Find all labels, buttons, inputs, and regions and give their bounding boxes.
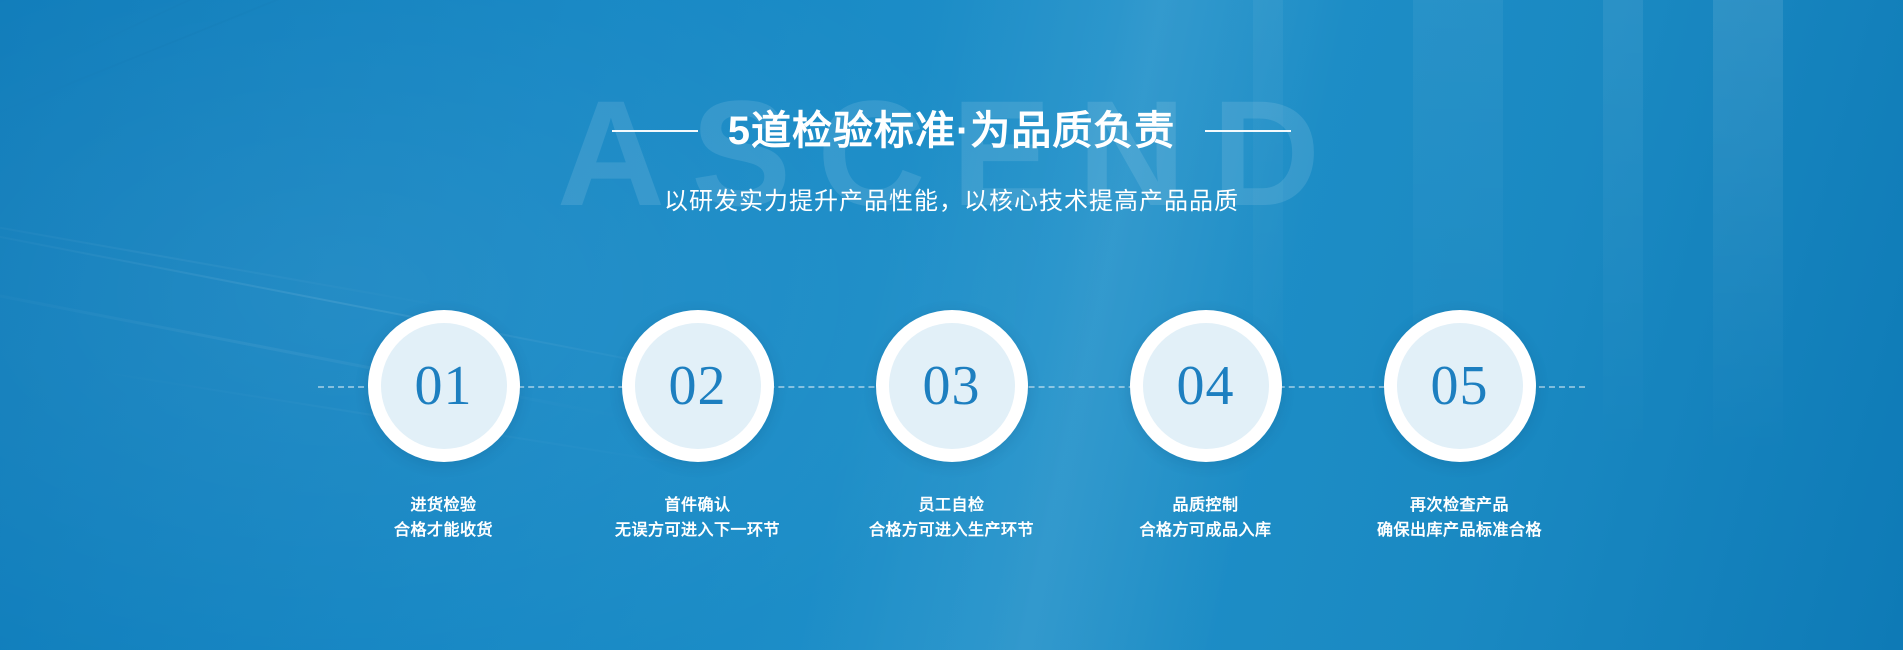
title-rule-right <box>1205 130 1291 132</box>
step-labels: 员工自检 合格方可进入生产环节 <box>869 494 1034 544</box>
step-circle: 04 <box>1130 310 1282 462</box>
step-circle-inner: 05 <box>1397 323 1523 449</box>
step-labels: 进货检验 合格才能收货 <box>394 494 493 544</box>
step-item[interactable]: 01 进货检验 合格才能收货 <box>339 310 549 544</box>
step-label-sub: 合格方可进入生产环节 <box>869 519 1034 544</box>
step-circle: 05 <box>1384 310 1536 462</box>
title-row: 5道检验标准·为品质负责 <box>0 105 1903 157</box>
step-circle-inner: 02 <box>635 323 761 449</box>
step-circle: 01 <box>368 310 520 462</box>
page-title: 5道检验标准·为品质负责 <box>728 111 1176 151</box>
step-label-main: 员工自检 <box>869 494 1034 519</box>
step-label-sub: 无误方可进入下一环节 <box>615 519 780 544</box>
step-labels: 首件确认 无误方可进入下一环节 <box>615 494 780 544</box>
step-labels: 品质控制 合格方可成品入库 <box>1139 494 1271 544</box>
step-number: 03 <box>923 358 981 414</box>
step-label-main: 首件确认 <box>615 494 780 519</box>
quality-standards-banner: ASCEND 5道检验标准·为品质负责 以研发实力提升产品性能，以核心技术提高产… <box>0 0 1903 650</box>
step-label-main: 品质控制 <box>1139 494 1271 519</box>
step-label-main: 再次检查产品 <box>1377 494 1542 519</box>
step-label-sub: 确保出库产品标准合格 <box>1377 519 1542 544</box>
step-label-sub: 合格才能收货 <box>394 519 493 544</box>
step-circle: 02 <box>622 310 774 462</box>
step-circle: 03 <box>876 310 1028 462</box>
process-steps: 01 进货检验 合格才能收货 02 首件确认 无误方可进入下一环节 <box>0 310 1903 560</box>
step-item[interactable]: 04 品质控制 合格方可成品入库 <box>1101 310 1311 544</box>
step-label-sub: 合格方可成品入库 <box>1139 519 1271 544</box>
step-circle-inner: 03 <box>889 323 1015 449</box>
banner-header: 5道检验标准·为品质负责 以研发实力提升产品性能，以核心技术提高产品品质 <box>0 0 1903 216</box>
step-number: 05 <box>1431 358 1489 414</box>
steps-track: 01 进货检验 合格才能收货 02 首件确认 无误方可进入下一环节 <box>0 310 1903 544</box>
step-labels: 再次检查产品 确保出库产品标准合格 <box>1377 494 1542 544</box>
step-label-main: 进货检验 <box>394 494 493 519</box>
title-rule-left <box>612 130 698 132</box>
step-circle-inner: 01 <box>381 323 507 449</box>
step-number: 04 <box>1177 358 1235 414</box>
step-circle-inner: 04 <box>1143 323 1269 449</box>
step-item[interactable]: 05 再次检查产品 确保出库产品标准合格 <box>1355 310 1565 544</box>
page-subtitle: 以研发实力提升产品性能，以核心技术提高产品品质 <box>0 181 1903 216</box>
step-item[interactable]: 02 首件确认 无误方可进入下一环节 <box>593 310 803 544</box>
step-number: 01 <box>415 358 473 414</box>
step-item[interactable]: 03 员工自检 合格方可进入生产环节 <box>847 310 1057 544</box>
step-number: 02 <box>669 358 727 414</box>
